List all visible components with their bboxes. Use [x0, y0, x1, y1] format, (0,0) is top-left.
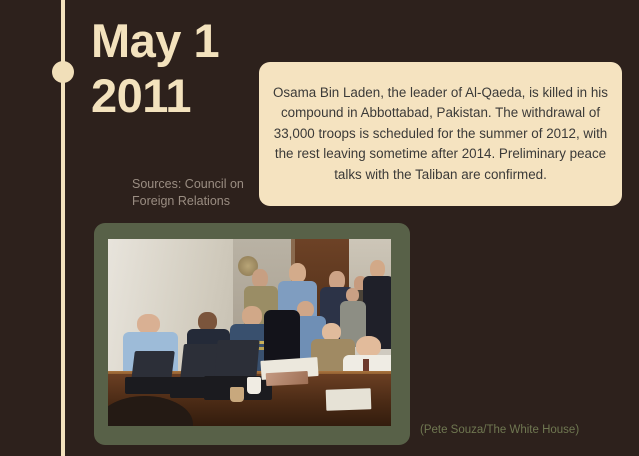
photo-printed-image: [266, 371, 309, 386]
headline-line-2: 2011: [91, 68, 281, 123]
timeline-dot: [52, 61, 74, 83]
sources-note: Sources: Council on Foreign Relations: [132, 176, 262, 211]
headline-line-1: May 1: [91, 13, 281, 68]
page-title: May 1 2011: [91, 13, 281, 124]
photo-frame: [94, 223, 410, 445]
photo-coffee-cup-1: [247, 377, 261, 394]
description-text: Osama Bin Laden, the leader of Al-Qaeda,…: [271, 83, 610, 185]
photo-coffee-cup-2: [230, 387, 244, 402]
photo-credit: (Pete Souza/The White House): [420, 424, 579, 436]
description-card: Osama Bin Laden, the leader of Al-Qaeda,…: [259, 62, 622, 206]
photo-binder: [326, 388, 372, 410]
timeline-slide: May 1 2011 Sources: Council on Foreign R…: [0, 0, 639, 456]
situation-room-photo: [108, 239, 391, 426]
photo-laptop-screen-3: [214, 340, 260, 377]
